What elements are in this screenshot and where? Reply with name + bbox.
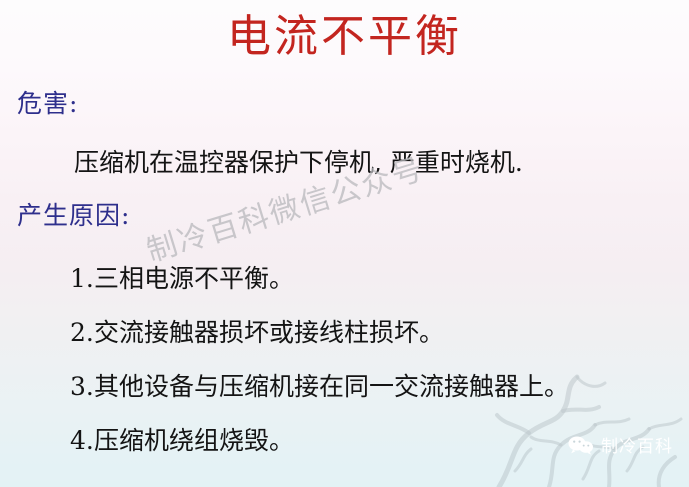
list-item: 3.其他设备与压缩机接在同一交流接触器上。 bbox=[70, 360, 569, 414]
list-item-number: 3. bbox=[70, 360, 94, 414]
wechat-badge: 制冷百科 bbox=[568, 435, 673, 459]
harm-body-text: 压缩机在温控器保护下停机, 严重时烧机. bbox=[74, 146, 523, 180]
section-heading-cause: 产生原因: bbox=[17, 200, 130, 232]
list-item-number: 4. bbox=[70, 414, 94, 468]
list-item-label: 压缩机绕组烧毁。 bbox=[94, 426, 294, 455]
slide-title: 电流不平衡 bbox=[0, 8, 689, 66]
list-item: 1.三相电源不平衡。 bbox=[70, 252, 569, 306]
list-item-label: 交流接触器损坏或接线柱损坏。 bbox=[94, 318, 444, 347]
list-item-number: 1. bbox=[70, 252, 94, 306]
list-item: 2.交流接触器损坏或接线柱损坏。 bbox=[70, 306, 569, 360]
list-item-label: 其他设备与压缩机接在同一交流接触器上。 bbox=[94, 372, 569, 401]
list-item: 4.压缩机绕组烧毁。 bbox=[70, 414, 569, 468]
slide-canvas: 电流不平衡 危害: 压缩机在温控器保护下停机, 严重时烧机. 产生原因: 1.三… bbox=[0, 0, 689, 487]
cause-list: 1.三相电源不平衡。 2.交流接触器损坏或接线柱损坏。 3.其他设备与压缩机接在… bbox=[70, 252, 569, 468]
section-heading-harm: 危害: bbox=[17, 88, 78, 120]
list-item-label: 三相电源不平衡。 bbox=[94, 264, 294, 293]
list-item-number: 2. bbox=[70, 306, 94, 360]
wechat-badge-label: 制冷百科 bbox=[601, 439, 673, 456]
wechat-icon bbox=[568, 435, 594, 459]
